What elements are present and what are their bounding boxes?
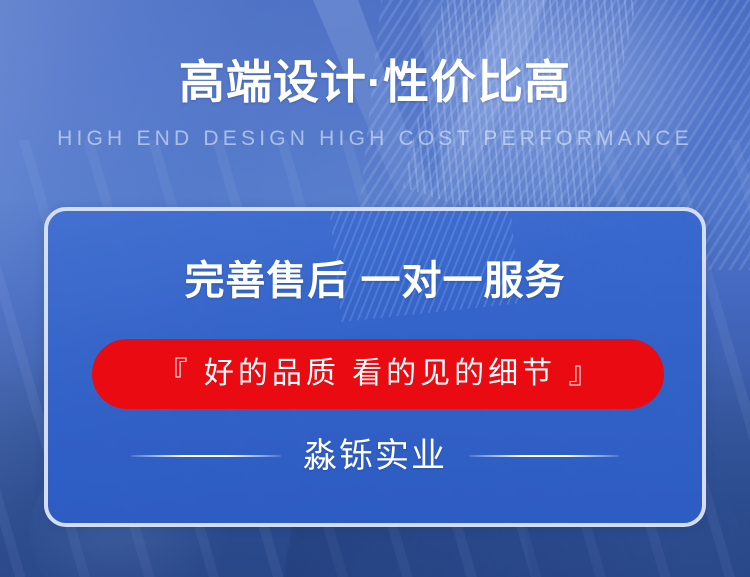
- headline-chinese: 高端设计·性价比高: [0, 58, 750, 106]
- brand-name: 淼铄实业: [303, 439, 447, 473]
- service-card: 完善售后 一对一服务 『 好的品质 看的见的细节 』 淼铄实业: [44, 207, 706, 527]
- divider-left: [131, 455, 281, 457]
- promo-banner: 高端设计·性价比高 HIGH END DESIGN HIGH COST PERF…: [0, 0, 750, 577]
- card-title: 完善售后 一对一服务: [48, 261, 702, 301]
- divider-right: [469, 455, 619, 457]
- quality-pill-text: 『 好的品质 看的见的细节 』: [153, 359, 602, 389]
- banner-header: 高端设计·性价比高 HIGH END DESIGN HIGH COST PERF…: [0, 0, 750, 149]
- subheadline-english: HIGH END DESIGN HIGH COST PERFORMANCE: [0, 128, 750, 149]
- brand-line: 淼铄实业: [48, 439, 702, 473]
- quality-pill: 『 好的品质 看的见的细节 』: [92, 339, 664, 409]
